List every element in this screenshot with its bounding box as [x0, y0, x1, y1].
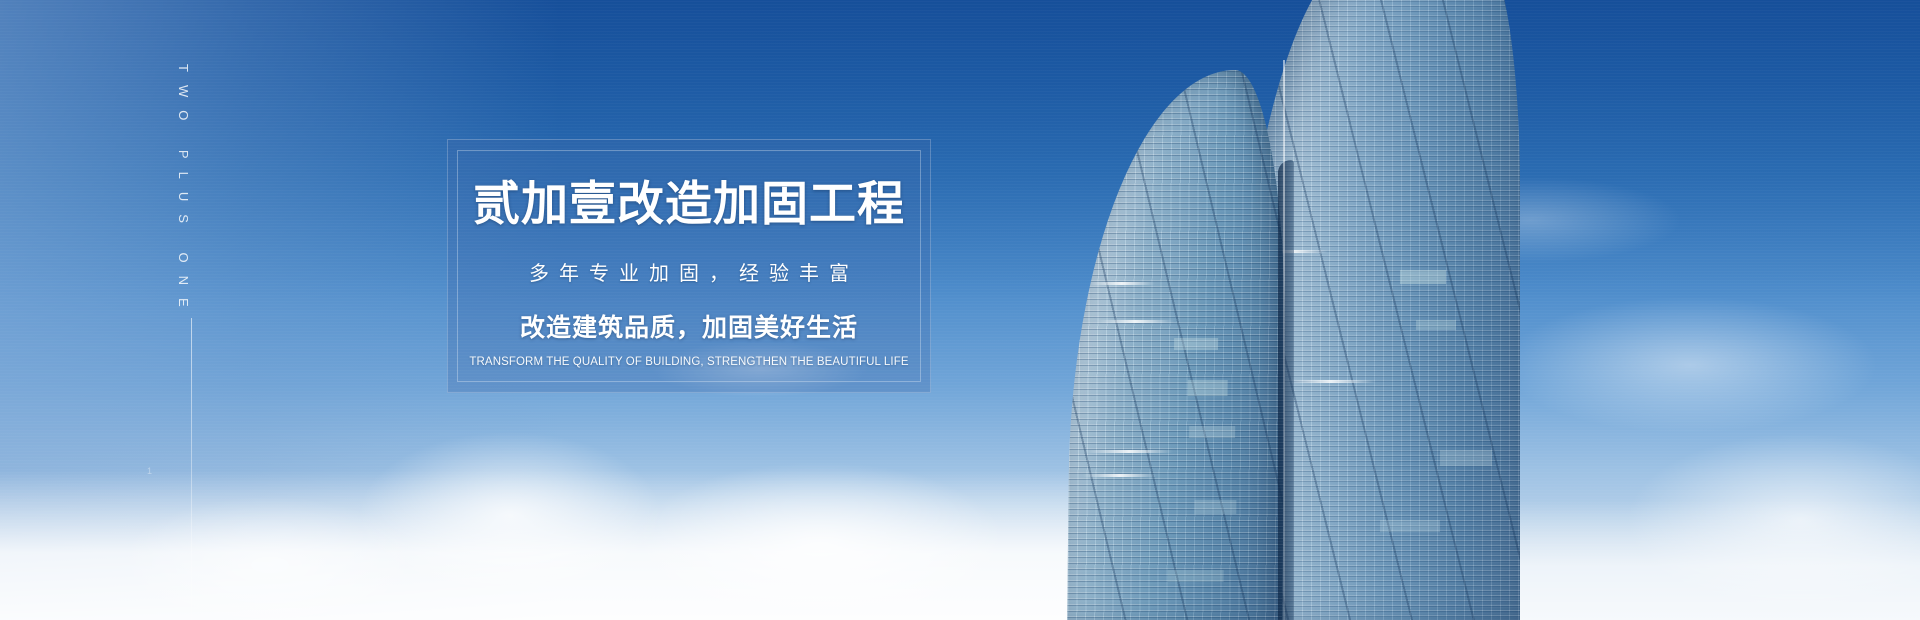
window-glint: [1085, 450, 1173, 453]
vertical-rule: [191, 318, 192, 620]
hero-text-panel: 贰加壹改造加固工程 多年专业加固，经验丰富 改造建筑品质，加固美好生活 TRAN…: [447, 139, 931, 393]
window-glint: [1096, 320, 1174, 323]
window-light: [1189, 426, 1235, 438]
vertical-tick-label: 1: [147, 466, 153, 476]
window-light: [1380, 520, 1440, 532]
page-title: 贰加壹改造加固工程: [448, 178, 930, 230]
vertical-brand-label: TWO PLUS ONE: [176, 64, 191, 314]
hero-slogan-cn: 改造建筑品质，加固美好生活: [448, 308, 930, 344]
hero-slogan-en: TRANSFORM THE QUALITY OF BUILDING, STREN…: [448, 356, 930, 368]
hero-banner: TWO PLUS ONE 1 贰加壹改造加固工程 多年专业加固，经验丰富 改造建…: [0, 0, 1920, 620]
window-light: [1168, 570, 1224, 582]
window-glint: [1089, 282, 1155, 285]
tower-shadow-gap: [1278, 160, 1294, 620]
window-light: [1416, 320, 1456, 330]
window-glint: [1286, 380, 1376, 383]
hero-panel-content: 贰加壹改造加固工程 多年专业加固，经验丰富 改造建筑品质，加固美好生活 TRAN…: [448, 178, 930, 368]
window-light: [1440, 450, 1492, 466]
window-light: [1400, 270, 1446, 284]
window-light: [1194, 500, 1236, 514]
tower-edge-highlight: [1283, 60, 1285, 620]
vertical-brand-text: TWO PLUS ONE: [176, 64, 191, 320]
skyscraper-front: [1067, 70, 1288, 620]
window-light: [1174, 338, 1218, 350]
window-glint: [1083, 474, 1157, 477]
hero-subtitle-primary: 多年专业加固，经验丰富: [448, 257, 930, 286]
window-light: [1188, 380, 1228, 396]
skyscraper-group: [1040, 0, 1600, 620]
